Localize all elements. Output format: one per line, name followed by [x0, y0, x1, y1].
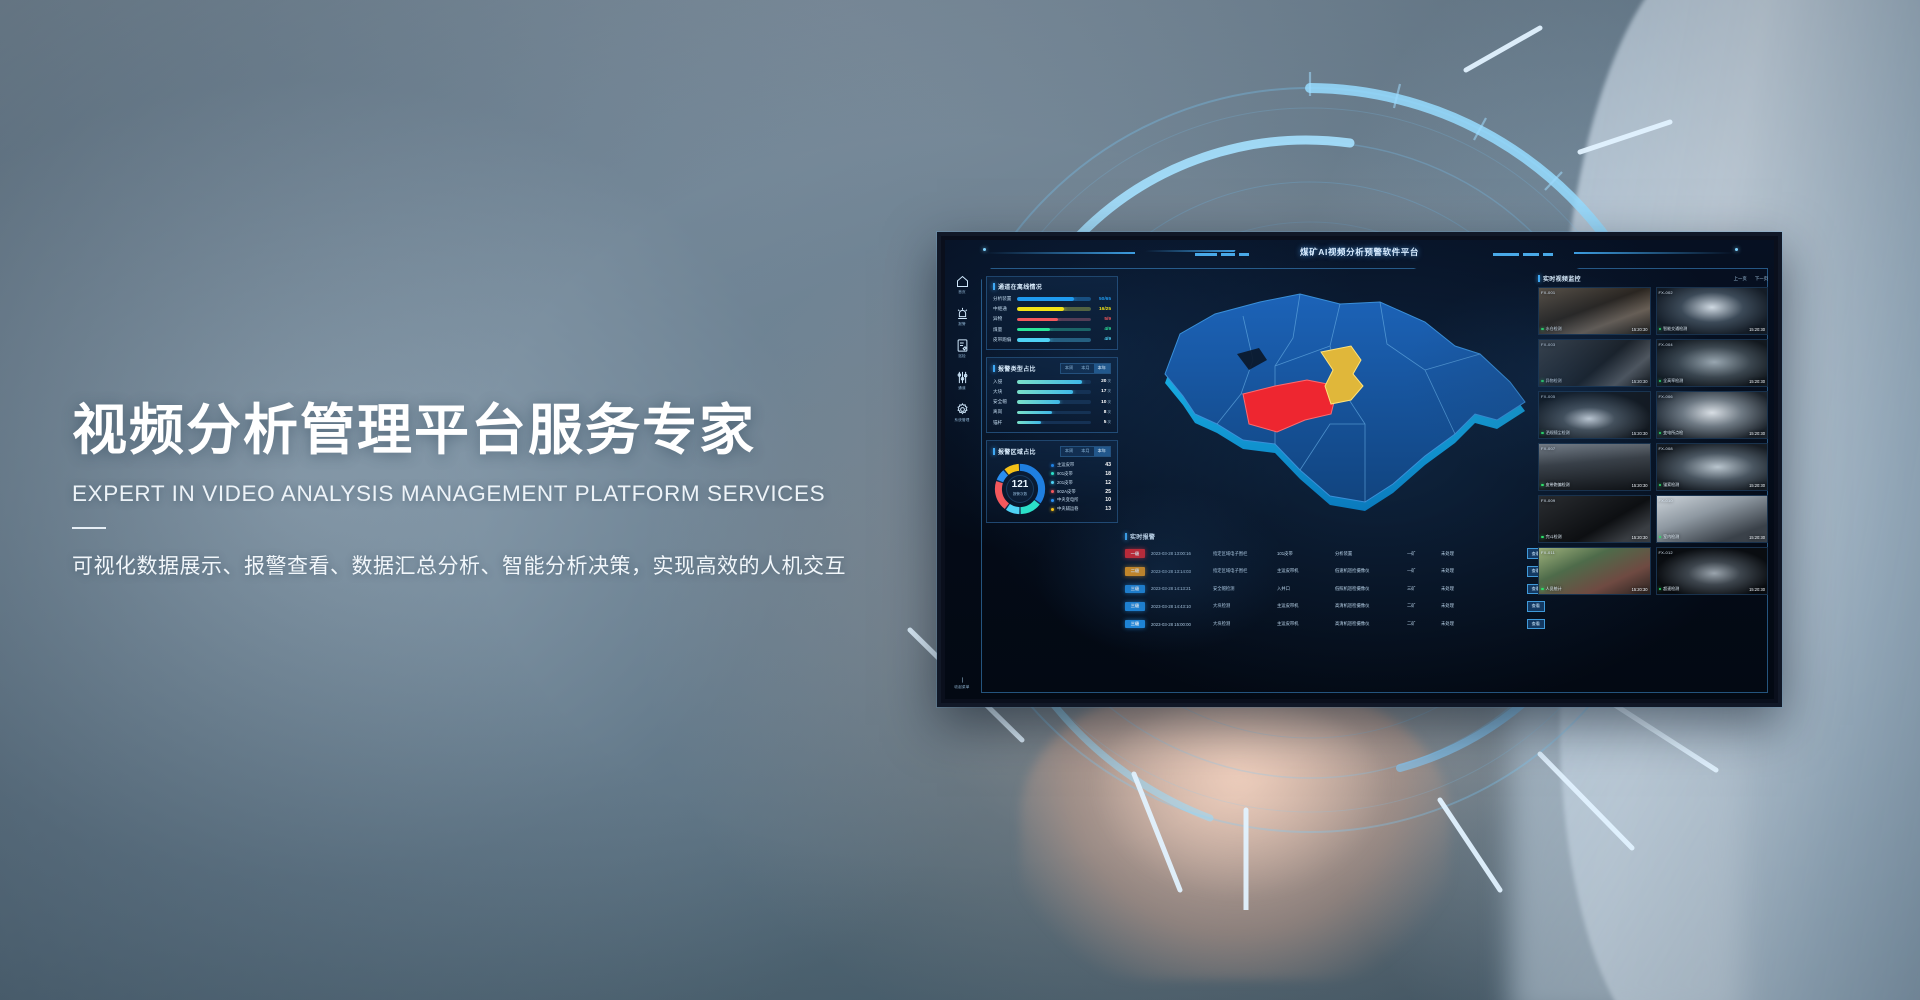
video-tile-status: 水仓检测 [1541, 326, 1562, 332]
channel-row-remainder [1074, 297, 1091, 301]
dashboard-monitor: 煤矿AI视频分析预警软件平台 首页 报警 [937, 232, 1782, 707]
channel-row-fill [1017, 338, 1050, 342]
video-tile[interactable]: FX-012 超速检测 15:20:30 [1656, 547, 1769, 595]
video-tile-status: 锚索检测 [1659, 482, 1680, 488]
sidebar-item-channel-label: 通道 [945, 386, 979, 391]
alarm-area-tab[interactable]: 本月 [1077, 447, 1093, 456]
video-tile-name: 锚索检测 [1663, 482, 1679, 488]
video-tile-name: 超速检测 [1663, 586, 1679, 592]
legend-item-value: 25 [1105, 489, 1111, 495]
alarm-location-cell: 主运皮带机 [1277, 563, 1335, 581]
recording-indicator-icon [1541, 484, 1544, 487]
alarm-device-cell: 低照机巡检摄像仪 [1335, 580, 1407, 598]
alarm-type-row-value: 17次 [1091, 389, 1111, 394]
legend-item-value: 18 [1105, 471, 1111, 477]
left-panel-column: 通道在离线情况 分析装置 50/65 中继通 16/25 异物 5/9 煤量 [986, 276, 1118, 688]
home-icon [955, 274, 970, 289]
alarm-type-cell: 指定区域电子围栏 [1213, 563, 1277, 581]
legend-dot-icon [1051, 464, 1054, 467]
video-tile-time: 15:20:30 [1749, 327, 1765, 332]
alarm-time-cell: 2023-03-28 14:13:21 [1151, 580, 1213, 598]
realtime-alarm-title-wrap: 实时报警 [1125, 532, 1155, 541]
alarm-time-cell: 2023-03-28 13:14:03 [1151, 563, 1213, 581]
channel-row-remainder [1064, 307, 1091, 311]
hero-description: 可视化数据展示、报警查看、数据汇总分析、智能分析决策，实现高效的人机交互 [72, 550, 912, 580]
channel-row-value: 50/65 [1091, 297, 1111, 302]
recording-indicator-icon [1659, 536, 1662, 539]
legend-item: 201皮带 12 [1051, 480, 1111, 486]
settings-icon [955, 402, 970, 417]
alarm-type-panel-header: 报警类型占比 本周本月本年 [993, 363, 1111, 374]
status-badge: 二级 [1125, 567, 1145, 576]
alarm-type-row-label: 安全帽 [993, 399, 1017, 405]
alarm-type-row: 离岗 8次 [993, 409, 1111, 415]
recording-indicator-icon [1541, 536, 1544, 539]
hero-divider [72, 527, 106, 529]
alarm-area-panel: 报警区域占比 本周本月本年 121 报警次数 主运皮带 43 [986, 440, 1118, 523]
alarm-type-row-label: 入侵 [993, 379, 1017, 385]
channel-row-remainder [1058, 318, 1091, 322]
channel-row-value: 4/9 [1091, 337, 1111, 342]
title-accent-bar [993, 283, 995, 290]
channel-row-fill [1017, 328, 1050, 332]
video-tile-status: 智能交通检测 [1659, 326, 1688, 332]
realtime-alarm-title: 实时报警 [1130, 532, 1155, 541]
alarm-level-cell: 一级 [1125, 545, 1151, 563]
alarm-action-cell: 查看 [1477, 563, 1545, 581]
status-badge: 三级 [1125, 620, 1145, 629]
legend-item-name: 201皮带 [1057, 480, 1105, 486]
video-tile-code: FX-006 [1659, 394, 1673, 399]
channel-row-fill [1017, 318, 1058, 322]
alarm-type-row: 安全帽 10次 [993, 399, 1111, 405]
alarm-type-row-value: 5次 [1091, 420, 1111, 425]
sidebar-item-system-management-label: 系统管理 [945, 418, 979, 423]
alarm-type-row-fill [1017, 411, 1052, 415]
legend-dot-icon [1051, 508, 1054, 511]
alarm-location-cell: 主运皮带机 [1277, 615, 1335, 633]
video-tile-name: 变电所点检 [1663, 430, 1683, 436]
video-tile[interactable]: FX-011 人员统计 15:20:30 [1538, 547, 1651, 595]
alarm-type-row-value: 20次 [1091, 379, 1111, 384]
sidebar-item-inspection-label: 巡检 [945, 354, 979, 359]
prev-page-button[interactable]: 上一页 [1734, 276, 1747, 282]
channel-row-track [1017, 328, 1091, 332]
recording-indicator-icon [1541, 588, 1544, 591]
channel-row: 异物 5/9 [993, 316, 1111, 322]
channel-row-remainder [1050, 338, 1091, 342]
legend-item-name: 中央变电所 [1057, 497, 1105, 503]
alarm-location-cell: 主运皮带机 [1277, 598, 1335, 616]
alarm-level-cell: 二级 [1125, 563, 1151, 581]
video-tile-code: FX-009 [1541, 498, 1555, 503]
legend-item: 中央辅运巷 13 [1051, 506, 1111, 512]
alarm-type-cell: 指定区域电子围栏 [1213, 545, 1277, 563]
alarm-type-cell: 安全帽检测 [1213, 580, 1277, 598]
legend-item-name: 902A皮带 [1057, 489, 1105, 495]
channel-row: 煤量 4/9 [993, 327, 1111, 333]
table-row[interactable]: 二级 2023-03-28 13:14:03 指定区域电子围栏 主运皮带机 低速… [1125, 563, 1545, 581]
alarm-type-title-wrap: 报警类型占比 [993, 364, 1036, 373]
alarm-type-cell: 大块检测 [1213, 598, 1277, 616]
alarm-area-chart-wrap: 121 报警次数 主运皮带 43 901皮带 18 201皮带 12 902A皮… [993, 462, 1111, 516]
collapse-icon [959, 676, 966, 684]
video-tile-code: FX-008 [1659, 446, 1673, 451]
sidebar-item-alarm-label: 报警 [945, 322, 979, 327]
alarm-action-cell: 查看 [1477, 580, 1545, 598]
legend-item: 主运皮带 43 [1051, 462, 1111, 468]
alarm-icon [955, 306, 970, 321]
alarm-area-legend: 主运皮带 43 901皮带 18 201皮带 12 902A皮带 25 中央变电… [1047, 462, 1111, 515]
video-tile-name: 异物检测 [1546, 378, 1562, 384]
alarm-type-row-label: 大块 [993, 389, 1017, 395]
alarm-area-panel-header: 报警区域占比 本周本月本年 [993, 446, 1111, 457]
video-tile-time: 15:20:30 [1749, 379, 1765, 384]
alarm-type-row: 入侵 20次 [993, 379, 1111, 385]
alarm-type-rows: 入侵 20次 大块 17次 安全帽 10次 离岗 8次 锚杆 5次 [993, 379, 1111, 426]
video-tile-status: 变电所点检 [1659, 430, 1684, 436]
sidebar-item-inspection[interactable]: 巡检 [945, 338, 979, 359]
realtime-alarm-header: 实时报警 [1125, 532, 1545, 541]
alarm-mine-cell: 三矿 [1407, 580, 1441, 598]
video-tile-time: 15:20:30 [1632, 327, 1648, 332]
legend-dot-icon [1051, 472, 1054, 475]
channel-panel-title: 通道在离线情况 [998, 282, 1042, 291]
status-badge: 三级 [1125, 585, 1145, 594]
video-tile-time: 15:20:30 [1749, 431, 1765, 436]
recording-indicator-icon [1541, 380, 1544, 383]
dashboard-screen: 煤矿AI视频分析预警软件平台 首页 报警 [945, 240, 1774, 699]
video-tile-code: FX-007 [1541, 446, 1555, 451]
video-pagination: 上一页 下一页 [1734, 276, 1768, 282]
video-tile-time: 15:20:30 [1632, 535, 1648, 540]
alarm-location-cell: 入井口 [1277, 580, 1335, 598]
alarm-action-cell: 查看 [1477, 615, 1545, 633]
map-regions [1165, 294, 1525, 502]
title-accent-bar [1125, 533, 1127, 540]
video-tile-code: FX-012 [1659, 550, 1673, 555]
video-tile-time: 15:20:30 [1632, 379, 1648, 384]
alarm-type-row-fill [1017, 421, 1041, 425]
alarm-type-row: 锚杆 5次 [993, 420, 1111, 426]
alarm-type-cell: 大块检测 [1213, 615, 1277, 633]
alarm-level-cell: 三级 [1125, 615, 1151, 633]
title-accent-bar [1538, 275, 1540, 282]
alarm-area-title-wrap: 报警区域占比 [993, 447, 1036, 456]
realtime-alarm-tbody: 一级 2023-03-28 13:00:16 指定区域电子围栏 101皮带 分析… [1125, 545, 1545, 633]
video-tile-name: 完斗检测 [1546, 534, 1562, 540]
channel-row: 皮带跑偏 4/9 [993, 337, 1111, 343]
video-panel-title: 实时视频监控 [1543, 274, 1581, 283]
channel-panel-title-wrap: 通道在离线情况 [993, 282, 1042, 291]
alarm-location-cell: 101皮带 [1277, 545, 1335, 563]
video-tile-time: 15:20:30 [1632, 587, 1648, 592]
alarm-area-tab[interactable]: 本周 [1061, 447, 1077, 456]
recording-indicator-icon [1659, 588, 1662, 591]
status-badge: 三级 [1125, 602, 1145, 611]
recording-indicator-icon [1541, 432, 1544, 435]
inspection-icon [955, 338, 970, 353]
channel-row-label: 中继通 [993, 306, 1017, 312]
alarm-mine-cell: 二矿 [1407, 615, 1441, 633]
alarm-status-cell: 未处理 [1441, 580, 1477, 598]
video-tile-time: 15:20:30 [1749, 535, 1765, 540]
alarm-action-cell: 查看 [1477, 545, 1545, 563]
video-tile-code: FX-010 [1659, 498, 1673, 503]
channel-row-track [1017, 297, 1091, 301]
alarm-type-row-fill [1017, 400, 1060, 404]
video-tile-time: 15:20:30 [1632, 483, 1648, 488]
legend-dot-icon [1051, 481, 1054, 484]
video-tile-name: 皮带跑偏检测 [1546, 482, 1570, 488]
alarm-mine-cell: 一矿 [1407, 545, 1441, 563]
video-tile[interactable]: FX-009 完斗检测 15:20:30 [1538, 495, 1651, 543]
alarm-type-row-track [1017, 411, 1091, 415]
legend-item-value: 10 [1105, 497, 1111, 503]
alarm-status-cell: 未处理 [1441, 598, 1477, 616]
legend-item: 902A皮带 25 [1051, 489, 1111, 495]
legend-item: 901皮带 18 [1051, 471, 1111, 477]
channel-row: 分析装置 50/65 [993, 296, 1111, 302]
hero-subtitle: EXPERT IN VIDEO ANALYSIS MANAGEMENT PLAT… [72, 481, 912, 507]
video-tile[interactable]: FX-008 锚索检测 15:20:30 [1656, 443, 1769, 491]
alarm-device-cell: 高清机巡检摄像仪 [1335, 615, 1407, 633]
donut-center-label: 121 报警次数 [1006, 475, 1034, 503]
video-tile-name: 室内检测 [1663, 534, 1679, 540]
video-tile-status: 异物检测 [1541, 378, 1562, 384]
alarm-type-tabs[interactable]: 本周本月本年 [1060, 363, 1111, 374]
alarm-type-row-track [1017, 380, 1091, 384]
channel-row-track [1017, 338, 1091, 342]
alarm-device-cell: 低速机巡捡摄像仪 [1335, 563, 1407, 581]
recording-indicator-icon [1541, 328, 1544, 331]
status-badge: 一级 [1125, 549, 1145, 558]
video-tile-code: FX-002 [1659, 290, 1673, 295]
legend-item-value: 12 [1105, 480, 1111, 486]
alarm-type-tab[interactable]: 本周 [1061, 364, 1077, 373]
channel-row-label: 异物 [993, 316, 1017, 322]
channel-row-label: 煤量 [993, 327, 1017, 333]
channel-row-value: 4/9 [1091, 327, 1111, 332]
channel-row-value: 16/25 [1091, 307, 1111, 312]
video-tile-name: 洒规随尘检测 [1546, 430, 1570, 436]
video-tile-status: 超速检测 [1659, 586, 1680, 592]
video-tile-code: FX-005 [1541, 394, 1555, 399]
alarm-type-tab[interactable]: 本年 [1094, 364, 1110, 373]
channel-row-fill [1017, 307, 1064, 311]
video-tile-status: 人员统计 [1541, 586, 1562, 592]
video-tile-time: 15:20:30 [1632, 431, 1648, 436]
title-accent-bar [993, 365, 995, 372]
alarm-status-cell: 未处理 [1441, 545, 1477, 563]
channel-row-value: 5/9 [1091, 317, 1111, 322]
alarm-time-cell: 2023-03-28 13:00:16 [1151, 545, 1213, 563]
video-tile-status: 皮带跑偏检测 [1541, 482, 1570, 488]
alarm-type-tab[interactable]: 本月 [1077, 364, 1093, 373]
alarm-type-row: 大块 17次 [993, 389, 1111, 395]
alarm-level-cell: 三级 [1125, 580, 1151, 598]
channel-row-label: 分析装置 [993, 296, 1017, 302]
alarm-type-row-fill [1017, 380, 1082, 384]
recording-indicator-icon [1659, 432, 1662, 435]
video-tile-code: FX-003 [1541, 342, 1555, 347]
realtime-alarm-panel: 实时报警 一级 2023-03-28 13:00:16 指定区域电子围栏 101… [1125, 532, 1545, 688]
alarm-device-cell: 分析装置 [1335, 545, 1407, 563]
alarm-area-tab[interactable]: 本年 [1094, 447, 1110, 456]
video-tile[interactable]: FX-007 皮带跑偏检测 15:20:30 [1538, 443, 1651, 491]
video-tile-name: 全高率检测 [1663, 378, 1683, 384]
video-tile-code: FX-004 [1659, 342, 1673, 347]
region-map-svg [1125, 274, 1535, 524]
sidebar-item-system-management[interactable]: 系统管理 [945, 402, 979, 423]
video-tile-status: 完斗检测 [1541, 534, 1562, 540]
video-tile-status: 室内检测 [1659, 534, 1680, 540]
channel-row-track [1017, 318, 1091, 322]
video-tile[interactable]: FX-002 智能交通检测 15:20:30 [1656, 287, 1769, 335]
donut-total-caption: 报警次数 [1013, 492, 1027, 497]
alarm-area-tabs[interactable]: 本周本月本年 [1060, 446, 1111, 457]
video-tile[interactable]: FX-001 水仓检测 15:20:30 [1538, 287, 1651, 335]
alarm-type-row-value: 10次 [1091, 400, 1111, 405]
next-page-button[interactable]: 下一页 [1755, 276, 1768, 282]
alarm-status-cell: 未处理 [1441, 563, 1477, 581]
alarm-type-row-track [1017, 421, 1091, 425]
video-tile[interactable]: FX-006 变电所点检 15:20:30 [1656, 391, 1769, 439]
alarm-device-cell: 高清机巡检摄像仪 [1335, 598, 1407, 616]
video-tile[interactable]: FX-004 全高率检测 15:20:30 [1656, 339, 1769, 387]
channel-icon [955, 370, 970, 385]
alarm-area-panel-title: 报警区域占比 [998, 447, 1036, 456]
video-tile-status: 全高率检测 [1659, 378, 1684, 384]
channel-status-panel: 通道在离线情况 分析装置 50/65 中继通 16/25 异物 5/9 煤量 [986, 276, 1118, 350]
table-row[interactable]: 三级 2023-03-28 14:43:10 大块检测 主运皮带机 高清机巡检摄… [1125, 598, 1545, 616]
sidebar-item-channel[interactable]: 通道 [945, 370, 979, 391]
alarm-type-panel: 报警类型占比 本周本月本年 入侵 20次 大块 17次 安全帽 10次 离岗 8 [986, 357, 1118, 433]
alarm-mine-cell: 一矿 [1407, 563, 1441, 581]
video-tile[interactable]: FX-003 异物检测 15:20:30 [1538, 339, 1651, 387]
sidebar-item-home-label: 首页 [945, 290, 979, 295]
alarm-mine-cell: 二矿 [1407, 598, 1441, 616]
alarm-type-row-track [1017, 400, 1091, 404]
dashboard-sidebar: 首页 报警 巡检 [945, 266, 979, 699]
alarm-type-row-label: 离岗 [993, 409, 1017, 415]
video-tile-name: 智能交通检测 [1663, 326, 1687, 332]
alarm-level-cell: 三级 [1125, 598, 1151, 616]
table-row[interactable]: 三级 2023-03-28 15:00:00 大块检测 主运皮带机 高清机巡检摄… [1125, 615, 1545, 633]
video-tile-name: 人员统计 [1546, 586, 1562, 592]
region-map[interactable] [1125, 274, 1535, 524]
video-tile-name: 水仓检测 [1546, 326, 1562, 332]
video-tile-time: 15:20:30 [1749, 483, 1765, 488]
channel-rows: 分析装置 50/65 中继通 16/25 异物 5/9 煤量 4/9 皮带跑偏 [993, 296, 1111, 343]
video-tile-status: 洒规随尘检测 [1541, 430, 1570, 436]
legend-item-name: 901皮带 [1057, 471, 1105, 477]
sidebar-item-alarm[interactable]: 报警 [945, 306, 979, 327]
video-panel-title-wrap: 实时视频监控 [1538, 274, 1581, 283]
legend-item-value: 13 [1105, 506, 1111, 512]
dashboard-title: 煤矿AI视频分析预警软件平台 [945, 246, 1774, 258]
alarm-type-panel-title: 报警类型占比 [998, 364, 1036, 373]
channel-row: 中继通 16/25 [993, 306, 1111, 312]
donut-total-value: 121 [1012, 480, 1029, 490]
legend-item-name: 主运皮带 [1057, 462, 1105, 468]
alarm-status-cell: 未处理 [1441, 615, 1477, 633]
legend-item-name: 中央辅运巷 [1057, 506, 1105, 512]
alarm-time-cell: 2023-03-28 15:00:00 [1151, 615, 1213, 633]
page-title: 视频分析管理平台服务专家 [72, 398, 912, 463]
video-tile-code: FX-001 [1541, 290, 1555, 295]
alarm-type-row-track [1017, 390, 1091, 394]
legend-dot-icon [1051, 490, 1054, 493]
video-tile-grid: FX-001 水仓检测 15:20:30 FX-002 智能交通检测 15:20… [1538, 287, 1768, 595]
alarm-area-donut-chart: 121 报警次数 [993, 462, 1047, 516]
video-monitor-panel: 实时视频监控 上一页 下一页 FX-001 水仓检测 15:20:30 FX-0… [1538, 274, 1768, 688]
alarm-type-row-value: 8次 [1091, 410, 1111, 415]
table-row[interactable]: 三级 2023-03-28 14:13:21 安全帽检测 入井口 低照机巡检摄像… [1125, 580, 1545, 598]
table-row[interactable]: 一级 2023-03-28 13:00:16 指定区域电子围栏 101皮带 分析… [1125, 545, 1545, 563]
recording-indicator-icon [1659, 380, 1662, 383]
sidebar-collapse-label: 收起菜单 [945, 685, 979, 690]
legend-dot-icon [1051, 499, 1054, 502]
video-tile[interactable]: FX-005 洒规随尘检测 15:20:30 [1538, 391, 1651, 439]
video-tile[interactable]: FX-010 室内检测 15:20:30 [1656, 495, 1769, 543]
alarm-action-cell: 查看 [1477, 598, 1545, 616]
channel-row-track [1017, 307, 1091, 311]
channel-row-remainder [1050, 328, 1091, 332]
alarm-type-row-label: 锚杆 [993, 420, 1017, 426]
dashboard-header: 煤矿AI视频分析预警软件平台 [945, 240, 1774, 266]
video-tile-time: 15:20:30 [1749, 587, 1765, 592]
title-accent-bar [993, 448, 995, 455]
sidebar-item-home[interactable]: 首页 [945, 274, 979, 295]
channel-panel-header: 通道在离线情况 [993, 282, 1111, 291]
channel-row-fill [1017, 297, 1074, 301]
recording-indicator-icon [1659, 484, 1662, 487]
channel-row-label: 皮带跑偏 [993, 337, 1017, 343]
sidebar-collapse-button[interactable]: 收起菜单 [945, 676, 979, 690]
legend-item: 中央变电所 10 [1051, 497, 1111, 503]
legend-item-value: 43 [1105, 462, 1111, 468]
video-tile-code: FX-011 [1541, 550, 1555, 555]
hero-copy: 视频分析管理平台服务专家 EXPERT IN VIDEO ANALYSIS MA… [72, 398, 912, 580]
recording-indicator-icon [1659, 328, 1662, 331]
video-panel-header: 实时视频监控 上一页 下一页 [1538, 274, 1768, 283]
alarm-type-row-fill [1017, 390, 1073, 394]
realtime-alarm-table: 一级 2023-03-28 13:00:16 指定区域电子围栏 101皮带 分析… [1125, 545, 1545, 633]
alarm-time-cell: 2023-03-28 14:43:10 [1151, 598, 1213, 616]
